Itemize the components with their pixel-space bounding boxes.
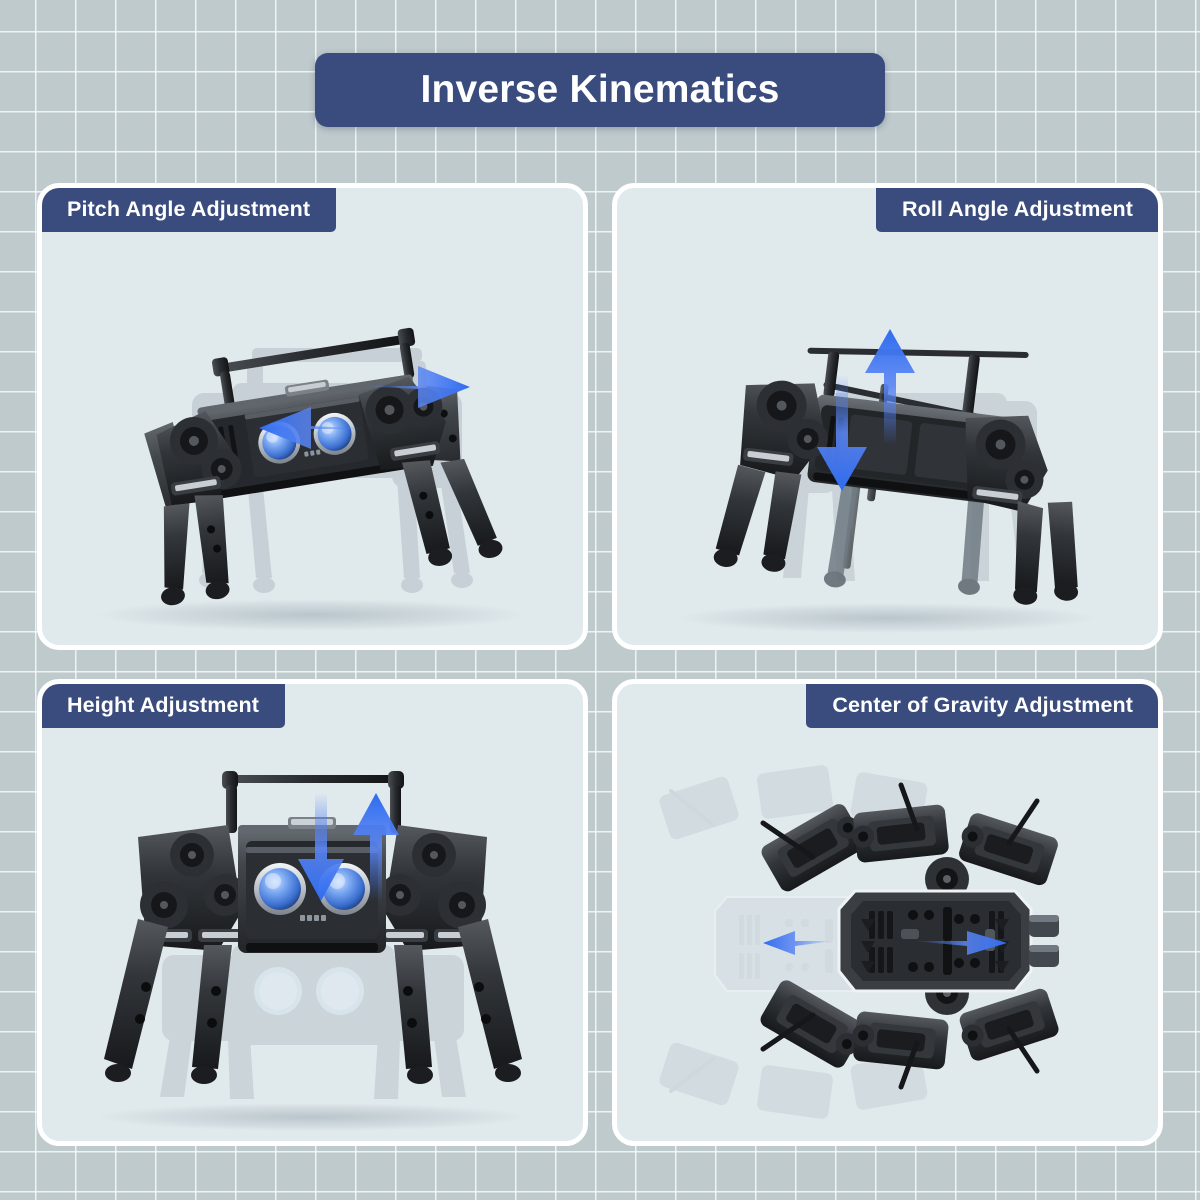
arrow-down-height <box>294 791 348 903</box>
arrow-left-pitch <box>257 399 369 457</box>
page-title: Inverse Kinematics <box>420 68 779 112</box>
panel-header-cog: Center of Gravity Adjustment <box>806 683 1159 728</box>
robot-side-connectors <box>1029 915 1059 967</box>
panel-header-height: Height Adjustment <box>41 683 285 728</box>
panel-title-cog: Center of Gravity Adjustment <box>832 693 1133 718</box>
robot-rear-leg-near <box>191 491 239 601</box>
page-title-banner: Inverse Kinematics <box>315 53 885 127</box>
panel-stage-roll <box>617 233 1158 645</box>
arrow-right-pitch <box>360 358 472 416</box>
panel-header-roll: Roll Angle Adjustment <box>876 187 1159 232</box>
arrow-down-roll <box>813 373 871 493</box>
panel-title-height: Height Adjustment <box>67 693 259 718</box>
panel-pitch[interactable]: Pitch Angle Adjustment <box>37 183 588 650</box>
floor-shadow <box>97 1103 527 1131</box>
floor-shadow <box>677 603 1097 633</box>
panel-stage-height <box>42 729 583 1141</box>
floor-shadow <box>97 599 527 631</box>
panel-stage-pitch <box>42 233 583 645</box>
arrow-up-height <box>349 791 403 903</box>
panel-title-roll: Roll Angle Adjustment <box>902 197 1133 222</box>
panel-stage-cog <box>617 729 1158 1141</box>
panel-roll[interactable]: Roll Angle Adjustment <box>612 183 1163 650</box>
panel-height[interactable]: Height Adjustment <box>37 679 588 1146</box>
robot-front-hip-roll <box>955 408 1054 514</box>
panel-header-pitch: Pitch Angle Adjustment <box>41 187 336 232</box>
panel-title-pitch: Pitch Angle Adjustment <box>67 197 310 222</box>
panel-center-of-gravity[interactable]: Center of Gravity Adjustment <box>612 679 1163 1146</box>
